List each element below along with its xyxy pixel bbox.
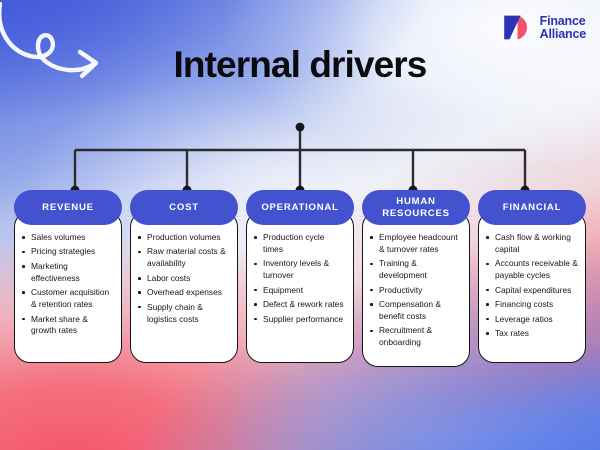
card-item-list-cost: Production volumes Raw material costs & … xyxy=(137,232,230,325)
list-item: Defect & rework rates xyxy=(253,299,346,311)
list-item: Tax rates xyxy=(485,328,578,340)
list-item: Accounts receivable & payable cycles xyxy=(485,258,578,282)
list-item: Overhead expenses xyxy=(137,287,230,299)
brand-line-2: Alliance xyxy=(540,28,586,41)
list-item: Employee headcount & turnover rates xyxy=(369,232,462,256)
card-title-revenue: REVENUE xyxy=(14,190,122,225)
list-item: Compensation & benefit costs xyxy=(369,299,462,323)
card-body-revenue: Sales volumes Pricing strategies Marketi… xyxy=(14,211,122,363)
card-title-human-resources: HUMAN RESOURCES xyxy=(362,190,470,225)
card-title-cost: COST xyxy=(130,190,238,225)
list-item: Training & development xyxy=(369,258,462,282)
list-item: Pricing strategies xyxy=(21,246,114,258)
card-title-financial: FINANCIAL xyxy=(478,190,586,225)
card-body-financial: Cash flow & working capital Accounts rec… xyxy=(478,211,586,363)
driver-card-financial[interactable]: FINANCIAL Cash flow & working capital Ac… xyxy=(478,190,586,363)
page-title: Internal drivers xyxy=(0,44,600,86)
driver-card-human-resources[interactable]: HUMAN RESOURCES Employee headcount & tur… xyxy=(362,190,470,367)
card-body-cost: Production volumes Raw material costs & … xyxy=(130,211,238,363)
card-body-human-resources: Employee headcount & turnover rates Trai… xyxy=(362,211,470,367)
list-item: Market share & growth rates xyxy=(21,314,114,338)
list-item: Productivity xyxy=(369,285,462,297)
list-item: Leverage ratios xyxy=(485,314,578,326)
card-item-list-operational: Production cycle times Inventory levels … xyxy=(253,232,346,325)
card-title-operational: OPERATIONAL xyxy=(246,190,354,225)
list-item: Recruitment & onboarding xyxy=(369,325,462,349)
list-item: Customer acquisition & retention rates xyxy=(21,287,114,311)
card-body-operational: Production cycle times Inventory levels … xyxy=(246,211,354,363)
card-item-list-financial: Cash flow & working capital Accounts rec… xyxy=(485,232,578,340)
card-item-list-human-resources: Employee headcount & turnover rates Trai… xyxy=(369,232,462,349)
driver-card-cost[interactable]: COST Production volumes Raw material cos… xyxy=(130,190,238,363)
driver-card-revenue[interactable]: REVENUE Sales volumes Pricing strategies… xyxy=(14,190,122,363)
list-item: Capital expenditures xyxy=(485,285,578,297)
brand-logo: Finance Alliance xyxy=(502,14,586,41)
finance-alliance-logo-icon xyxy=(502,14,533,41)
list-item: Cash flow & working capital xyxy=(485,232,578,256)
brand-line-1: Finance xyxy=(540,15,586,28)
list-item: Supply chain & logistics costs xyxy=(137,302,230,326)
list-item: Labor costs xyxy=(137,273,230,285)
list-item: Equipment xyxy=(253,285,346,297)
driver-card-row: REVENUE Sales volumes Pricing strategies… xyxy=(14,190,586,367)
list-item: Sales volumes xyxy=(21,232,114,244)
list-item: Raw material costs & availability xyxy=(137,246,230,270)
driver-card-operational[interactable]: OPERATIONAL Production cycle times Inven… xyxy=(246,190,354,363)
list-item: Production volumes xyxy=(137,232,230,244)
list-item: Production cycle times xyxy=(253,232,346,256)
list-item: Supplier performance xyxy=(253,314,346,326)
brand-name: Finance Alliance xyxy=(540,15,586,41)
list-item: Marketing effectiveness xyxy=(21,261,114,285)
list-item: Inventory levels & turnover xyxy=(253,258,346,282)
card-item-list-revenue: Sales volumes Pricing strategies Marketi… xyxy=(21,232,114,337)
list-item: Financing costs xyxy=(485,299,578,311)
